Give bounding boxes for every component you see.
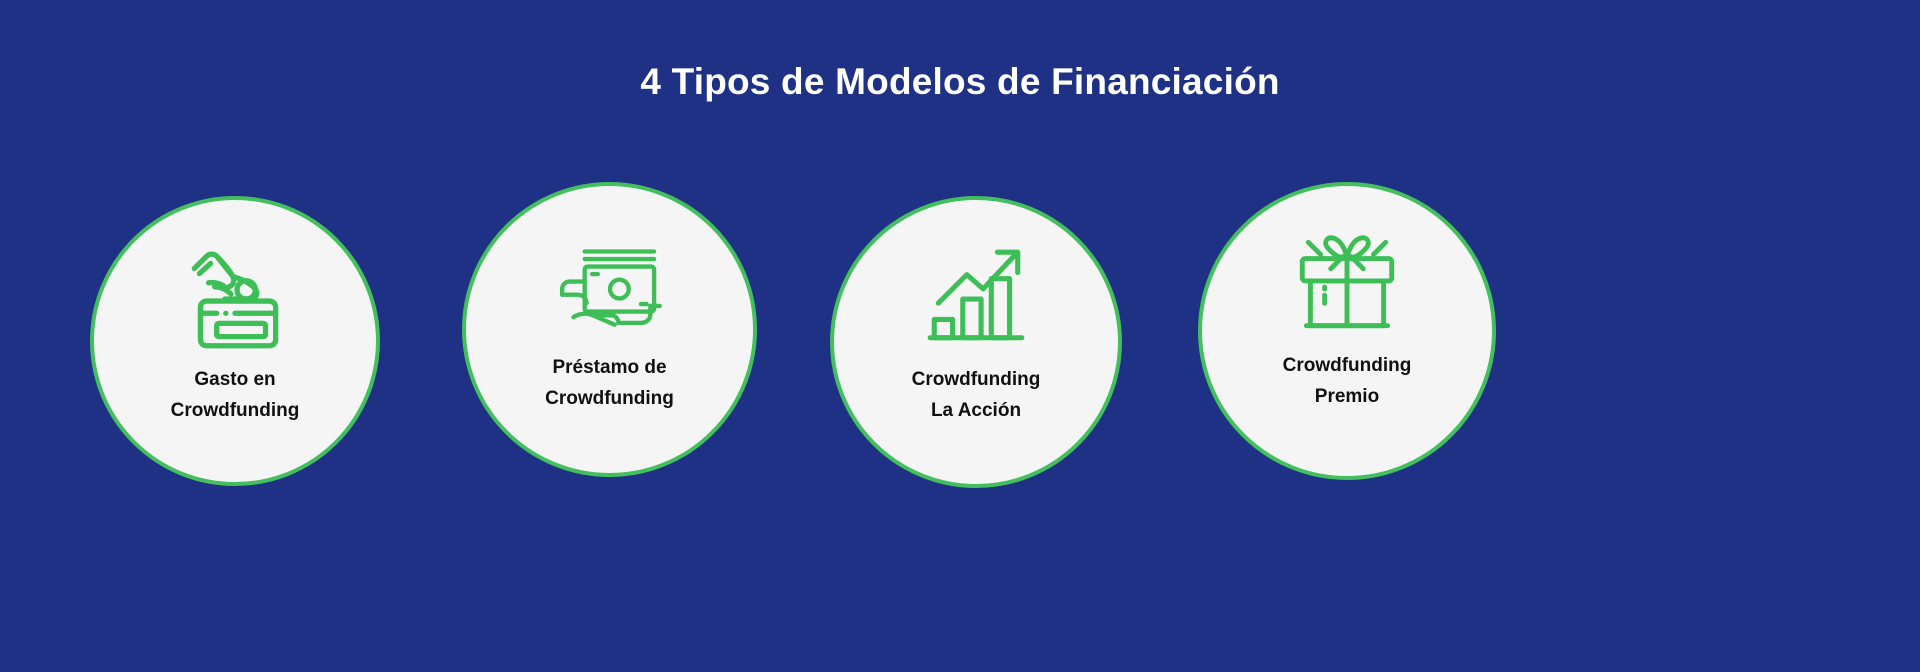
gift-box-ribbon-icon bbox=[1286, 228, 1408, 340]
card-label-line1: Crowdfunding bbox=[1283, 355, 1412, 376]
card-label-line1: Gasto en bbox=[194, 369, 275, 390]
card-crowdfunding-la-accion[interactable]: Crowdfunding La Acción bbox=[830, 196, 1122, 488]
card-label-line1: Préstamo de bbox=[552, 357, 666, 378]
banknotes-hand-icon bbox=[549, 234, 671, 346]
bar-chart-growth-arrow-icon bbox=[915, 240, 1037, 352]
card-label-line2: La Acción bbox=[852, 395, 1100, 426]
hand-coin-card-icon bbox=[174, 242, 296, 354]
card-label-line2: Crowdfunding bbox=[484, 383, 735, 414]
card-label-line1: Crowdfunding bbox=[912, 369, 1041, 390]
card-label: Gasto en Crowdfunding bbox=[94, 364, 376, 427]
card-label: Crowdfunding Premio bbox=[1202, 350, 1492, 413]
card-label-line2: Crowdfunding bbox=[112, 395, 358, 426]
card-label-line2: Premio bbox=[1220, 381, 1474, 412]
cards-container: Gasto en Crowdfunding bbox=[0, 0, 1920, 672]
card-crowdfunding-premio[interactable]: Crowdfunding Premio bbox=[1198, 182, 1496, 480]
card-label: Préstamo de Crowdfunding bbox=[466, 352, 753, 415]
card-prestamo-de-crowdfunding[interactable]: Préstamo de Crowdfunding bbox=[462, 182, 757, 477]
card-gasto-en-crowdfunding[interactable]: Gasto en Crowdfunding bbox=[90, 196, 380, 486]
infographic-canvas: 4 Tipos de Modelos de Financiación bbox=[0, 0, 1920, 672]
card-label: Crowdfunding La Acción bbox=[834, 364, 1118, 427]
